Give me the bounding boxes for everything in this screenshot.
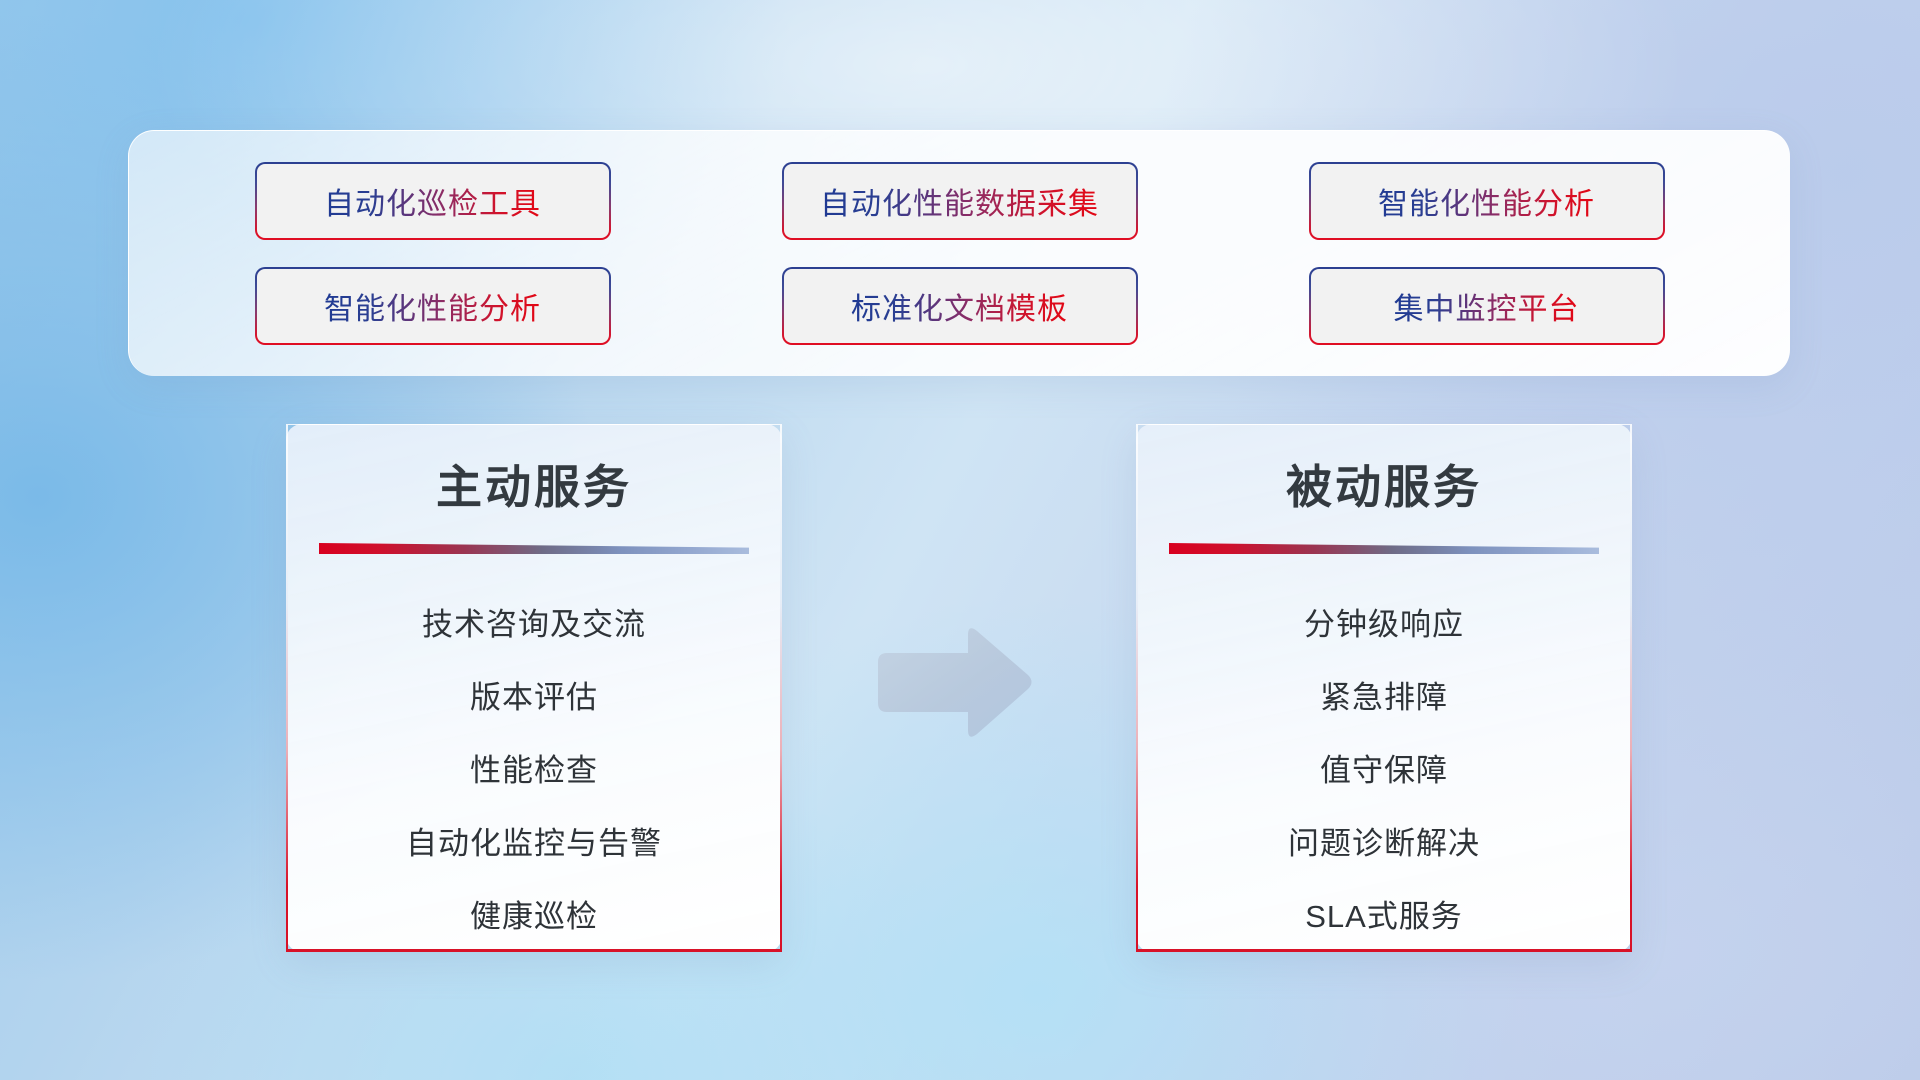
service-card-divider (1169, 543, 1599, 554)
service-list-item: 紧急排障 (1320, 661, 1448, 734)
capability-tag[interactable]: 自动化性能数据采集 (782, 162, 1138, 240)
service-list-item: 问题诊断解决 (1288, 807, 1480, 880)
capability-tag[interactable]: 智能化性能分析 (255, 267, 611, 345)
service-card-reactive[interactable]: 被动服务 分钟级响应 紧急排障 值守保障 问题诊断解决 SLA式服务 (1136, 424, 1632, 952)
capability-tag-surface: 智能化性能分析 (1311, 164, 1663, 238)
capability-tag[interactable]: 集中监控平台 (1309, 267, 1665, 345)
capability-tag-label: 智能化性能分析 (324, 284, 541, 328)
service-list-item: 技术咨询及交流 (422, 588, 646, 661)
service-list-item: 分钟级响应 (1304, 588, 1464, 661)
capability-tag-label: 自动化性能数据采集 (820, 179, 1099, 223)
capability-tag[interactable]: 自动化巡检工具 (255, 162, 611, 240)
service-list-item: 性能检查 (470, 734, 598, 807)
capability-tag-surface: 智能化性能分析 (257, 269, 609, 343)
service-card-item-list: 分钟级响应 紧急排障 值守保障 问题诊断解决 SLA式服务 (1138, 588, 1630, 952)
capability-tag[interactable]: 智能化性能分析 (1309, 162, 1665, 240)
service-list-item: 健康巡检 (470, 880, 598, 952)
capability-tag-surface: 自动化性能数据采集 (784, 164, 1136, 238)
service-card-title: 被动服务 (1138, 451, 1630, 517)
capability-tag-surface: 标准化文档模板 (784, 269, 1136, 343)
service-card-title: 主动服务 (288, 451, 780, 517)
capability-tag-surface: 集中监控平台 (1311, 269, 1663, 343)
capability-tag-label: 智能化性能分析 (1378, 179, 1595, 223)
service-list-item: 自动化监控与告警 (406, 807, 662, 880)
service-list-item: SLA式服务 (1305, 880, 1463, 952)
service-card-divider (319, 543, 749, 554)
capability-tag-label: 自动化巡检工具 (324, 179, 541, 223)
service-list-item: 值守保障 (1320, 734, 1448, 807)
capability-tag-panel: 自动化巡检工具 自动化性能数据采集 智能化性能分析 智能化性能分析 标准化文档模… (128, 130, 1790, 376)
service-card-item-list: 技术咨询及交流 版本评估 性能检查 自动化监控与告警 健康巡检 (288, 588, 780, 952)
service-card-proactive[interactable]: 主动服务 技术咨询及交流 版本评估 性能检查 自动化监控与告警 健康巡检 (286, 424, 782, 952)
capability-tag[interactable]: 标准化文档模板 (782, 267, 1138, 345)
divider-wedge-shape (1169, 543, 1599, 554)
capability-tag-surface: 自动化巡检工具 (257, 164, 609, 238)
capability-tag-label: 标准化文档模板 (851, 284, 1068, 328)
divider-wedge-shape (319, 543, 749, 554)
service-list-item: 版本评估 (470, 661, 598, 734)
flow-arrow-right-icon (872, 622, 1036, 746)
capability-tag-label: 集中监控平台 (1394, 284, 1580, 328)
